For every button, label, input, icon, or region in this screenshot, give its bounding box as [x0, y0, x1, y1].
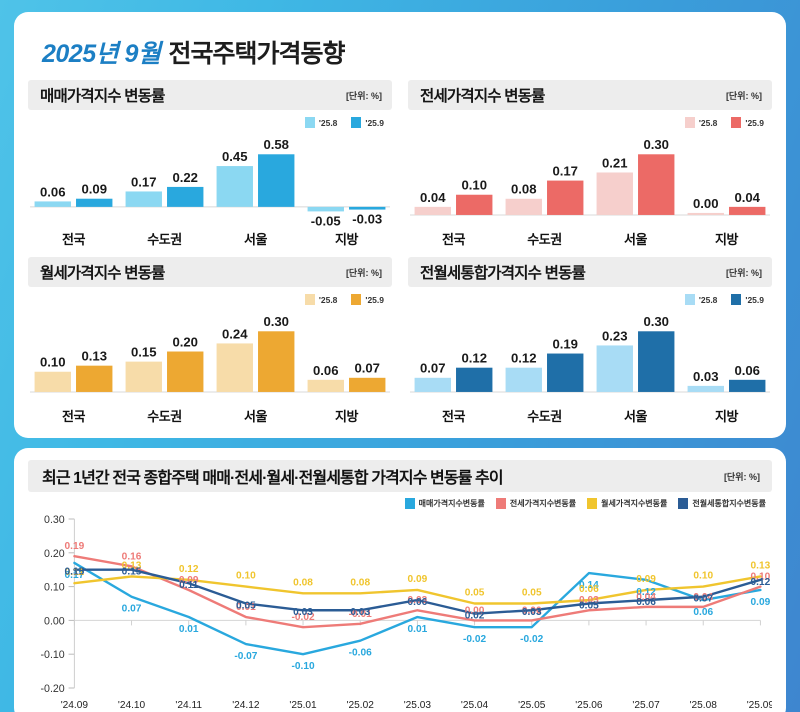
trend-point-label: 0.06	[579, 584, 599, 595]
bar-combined-서울-'25.9[interactable]	[638, 331, 674, 392]
legend-swatch-icon	[405, 498, 415, 509]
bar-wolse-서울-'25.9[interactable]	[258, 331, 294, 392]
panel-title-combined: 전월세통합가격지수 변동률	[420, 261, 585, 283]
bar-sale-전국-'25.9[interactable]	[76, 199, 112, 207]
bar-value-label: 0.12	[461, 351, 487, 366]
x-tick-label: '24.10	[118, 700, 146, 711]
category-label-전국: 전국	[28, 229, 119, 251]
category-label-지방: 지방	[681, 229, 772, 251]
legend-swatch-icon	[305, 294, 315, 305]
x-tick-label: '24.12	[232, 700, 260, 711]
bar-combined-전국-'25.9[interactable]	[456, 368, 492, 392]
bar-value-label: 0.10	[461, 178, 487, 193]
bar-jeonse-지방-'25.8[interactable]	[688, 213, 724, 215]
trend-legend-item-2[interactable]: 월세가격지수변동률	[587, 498, 667, 509]
bar-value-label: 0.19	[552, 337, 578, 352]
top-card: 2025년 9월 전국주택가격동향 매매가격지수 변동률[단위: %]'25.8…	[14, 12, 786, 438]
category-label-수도권: 수도권	[119, 406, 210, 428]
bar-value-label: 0.17	[131, 174, 157, 189]
legend-wolse: '25.8'25.9	[28, 287, 392, 305]
trend-point-label: 0.15	[65, 567, 85, 578]
panel-header-sale: 매매가격지수 변동률[단위: %]	[28, 80, 392, 110]
y-tick-label: 0.00	[44, 615, 65, 627]
panel-title-sale: 매매가격지수 변동률	[40, 84, 165, 106]
bar-value-label: 0.30	[643, 314, 669, 329]
bars-area-combined: 0.070.120.120.190.230.300.030.06	[408, 305, 772, 406]
bar-value-label: 0.08	[511, 182, 537, 197]
trend-point-label: 0.05	[236, 601, 256, 612]
bar-value-label: 0.07	[354, 361, 380, 376]
legend-swatch-icon	[731, 117, 741, 128]
bars-area-sale: 0.060.090.170.220.450.58-0.05-0.03	[28, 128, 392, 229]
category-label-전국: 전국	[408, 406, 499, 428]
x-tick-label: '24.11	[175, 700, 202, 711]
trend-point-label: 0.03	[293, 607, 313, 618]
trend-legend-item-1[interactable]: 전세가격지수변동률	[496, 498, 576, 509]
trend-point-label: -0.02	[520, 634, 543, 645]
legend-label: '25.9	[365, 118, 384, 128]
bar-jeonse-수도권-'25.9[interactable]	[547, 181, 583, 215]
bar-wolse-지방-'25.8[interactable]	[308, 380, 344, 392]
legend-item-wolse-0[interactable]: '25.8	[305, 294, 338, 305]
bar-value-label: 0.06	[734, 363, 760, 378]
trend-point-label: 0.03	[350, 607, 370, 618]
trend-point-label: -0.06	[349, 648, 372, 659]
bar-jeonse-수도권-'25.8[interactable]	[506, 199, 542, 215]
trend-point-label: 0.07	[122, 604, 142, 615]
trend-title: 최근 1년간 전국 종합주택 매매·전세·월세·전월세통합 가격지수 변동률 추…	[42, 464, 503, 488]
trend-point-label: 0.01	[179, 624, 199, 635]
x-tick-label: '25.02	[347, 700, 375, 711]
legend-swatch-icon	[685, 117, 695, 128]
bar-value-label: 0.45	[222, 149, 248, 164]
trend-point-label: 0.10	[693, 571, 713, 582]
trend-point-label: 0.06	[408, 597, 428, 608]
panel-jeonse: 전세가격지수 변동률[단위: %]'25.8'25.90.040.100.080…	[408, 80, 772, 251]
trend-point-label: 0.06	[693, 607, 713, 618]
bar-sale-지방-'25.9[interactable]	[349, 207, 385, 210]
bar-value-label: -0.03	[352, 212, 382, 227]
category-label-지방: 지방	[301, 406, 392, 428]
x-tick-label: '25.06	[575, 700, 603, 711]
bar-value-label: 0.07	[420, 361, 446, 376]
bar-value-label: 0.06	[313, 363, 339, 378]
bar-wolse-전국-'25.8[interactable]	[35, 372, 71, 392]
trend-point-label: 0.15	[122, 567, 142, 578]
legend-swatch-icon	[351, 294, 361, 305]
panel-header-combined: 전월세통합가격지수 변동률[단위: %]	[408, 257, 772, 287]
bar-value-label: 0.10	[40, 355, 66, 370]
title-period: 2025년 9월	[42, 34, 160, 70]
trend-point-label: 0.09	[636, 574, 656, 585]
trend-point-label: 0.05	[522, 588, 542, 599]
bar-svg-sale: 0.060.090.170.220.450.58-0.05-0.03	[28, 128, 392, 229]
category-label-서울: 서울	[590, 229, 681, 251]
trend-point-label: 0.09	[408, 574, 428, 585]
bar-jeonse-전국-'25.8[interactable]	[415, 207, 451, 215]
legend-swatch-icon	[685, 294, 695, 305]
bar-sale-지방-'25.8[interactable]	[308, 207, 344, 212]
trend-point-label: 0.01	[408, 624, 428, 635]
trend-unit-badge: [단위: %]	[724, 470, 760, 483]
bar-sale-서울-'25.8[interactable]	[217, 166, 253, 207]
bar-sale-수도권-'25.8[interactable]	[126, 191, 162, 206]
panel-combined: 전월세통합가격지수 변동률[단위: %]'25.8'25.90.070.120.…	[408, 257, 772, 428]
legend-swatch-icon	[351, 117, 361, 128]
trend-legend-label: 매매가격지수변동률	[419, 498, 485, 509]
bar-svg-combined: 0.070.120.120.190.230.300.030.06	[408, 305, 772, 406]
legend-label: '25.9	[745, 118, 764, 128]
category-row-combined: 전국수도권서울지방	[408, 406, 772, 428]
bar-value-label: 0.17	[552, 164, 578, 179]
bar-value-label: -0.05	[311, 214, 341, 229]
bar-value-label: 0.04	[420, 190, 446, 205]
trend-point-label: -0.02	[463, 634, 486, 645]
legend-swatch-icon	[678, 498, 688, 509]
legend-label: '25.9	[365, 295, 384, 305]
trend-point-label: 0.08	[293, 577, 313, 588]
legend-label: '25.8	[319, 118, 338, 128]
bar-value-label: 0.21	[602, 155, 628, 170]
x-tick-label: '25.09	[747, 700, 772, 711]
category-label-지방: 지방	[681, 406, 772, 428]
bar-jeonse-전국-'25.9[interactable]	[456, 195, 492, 215]
x-tick-label: '25.05	[518, 700, 546, 711]
legend-item-sale-0[interactable]: '25.8	[305, 117, 338, 128]
legend-item-combined-1[interactable]: '25.9	[731, 294, 764, 305]
trend-point-label: 0.11	[179, 580, 198, 591]
bar-jeonse-서울-'25.9[interactable]	[638, 154, 674, 215]
category-label-지방: 지방	[301, 229, 392, 251]
bar-value-label: 0.09	[81, 182, 107, 197]
bar-sale-서울-'25.9[interactable]	[258, 154, 294, 207]
trend-point-label: 0.07	[693, 594, 713, 605]
panel-wolse: 월세가격지수 변동률[단위: %]'25.8'25.90.100.130.150…	[28, 257, 392, 428]
trend-card: 최근 1년간 전국 종합주택 매매·전세·월세·전월세통합 가격지수 변동률 추…	[14, 448, 786, 712]
category-label-서울: 서울	[210, 229, 301, 251]
legend-item-combined-0[interactable]: '25.8	[685, 294, 718, 305]
title-main: 전국주택가격동향	[168, 34, 344, 70]
trend-legend-label: 전월세통합지수변동률	[692, 498, 766, 509]
bar-combined-지방-'25.9[interactable]	[729, 380, 765, 392]
bar-value-label: 0.30	[643, 137, 669, 152]
bar-value-label: 0.00	[693, 196, 719, 211]
unit-badge-sale: [단위: %]	[346, 89, 382, 102]
bar-value-label: 0.23	[602, 328, 628, 343]
legend-item-sale-1[interactable]: '25.9	[351, 117, 384, 128]
trend-point-label: 0.12	[179, 564, 199, 575]
legend-item-jeonse-0[interactable]: '25.8	[685, 117, 718, 128]
trend-point-label: 0.06	[636, 597, 656, 608]
y-tick-label: 0.20	[44, 548, 65, 560]
legend-label: '25.8	[699, 295, 718, 305]
bar-value-label: 0.24	[222, 326, 248, 341]
trend-point-label: -0.07	[234, 651, 257, 662]
bar-wolse-지방-'25.9[interactable]	[349, 378, 385, 392]
trend-point-label: 0.02	[465, 611, 485, 622]
trend-point-label: 0.05	[579, 601, 599, 612]
bar-value-label: 0.58	[263, 137, 289, 152]
trend-point-label: 0.19	[65, 541, 85, 552]
legend-swatch-icon	[496, 498, 506, 509]
x-tick-label: '25.01	[289, 700, 317, 711]
bar-jeonse-서울-'25.8[interactable]	[597, 172, 633, 214]
bar-value-label: 0.20	[172, 335, 198, 350]
trend-point-label: 0.08	[350, 577, 370, 588]
legend-sale: '25.8'25.9	[28, 110, 392, 128]
trend-point-label: 0.12	[751, 577, 771, 588]
unit-badge-combined: [단위: %]	[726, 266, 762, 279]
bar-value-label: 0.13	[81, 349, 107, 364]
legend-jeonse: '25.8'25.9	[408, 110, 772, 128]
bar-svg-jeonse: 0.040.100.080.170.210.300.000.04	[408, 128, 772, 229]
category-label-전국: 전국	[28, 406, 119, 428]
trend-legend-label: 월세가격지수변동률	[601, 498, 667, 509]
bar-value-label: 0.15	[131, 345, 157, 360]
legend-item-wolse-1[interactable]: '25.9	[351, 294, 384, 305]
trend-point-label: 0.03	[522, 607, 542, 618]
category-label-수도권: 수도권	[499, 229, 590, 251]
x-tick-label: '25.08	[690, 700, 718, 711]
trend-chart: 0.300.200.100.00-0.10-0.20'24.09'24.10'2…	[28, 511, 772, 712]
bars-area-jeonse: 0.040.100.080.170.210.300.000.04	[408, 128, 772, 229]
trend-point-label: 0.13	[751, 561, 771, 572]
panel-title-wolse: 월세가격지수 변동률	[40, 261, 165, 283]
bar-value-label: 0.12	[511, 351, 537, 366]
x-tick-label: '25.07	[632, 700, 660, 711]
bar-value-label: 0.04	[734, 190, 760, 205]
bar-svg-wolse: 0.100.130.150.200.240.300.060.07	[28, 305, 392, 406]
legend-combined: '25.8'25.9	[408, 287, 772, 305]
y-tick-label: 0.30	[44, 514, 65, 526]
legend-label: '25.9	[745, 295, 764, 305]
trend-legend-label: 전세가격지수변동률	[510, 498, 576, 509]
y-tick-label: -0.10	[41, 649, 65, 661]
bar-panel-grid: 매매가격지수 변동률[단위: %]'25.8'25.90.060.090.170…	[28, 80, 772, 428]
category-label-수도권: 수도권	[499, 406, 590, 428]
trend-point-label: 0.05	[465, 588, 485, 599]
bar-combined-수도권-'25.8[interactable]	[506, 368, 542, 392]
category-label-서울: 서울	[590, 406, 681, 428]
trend-legend: 매매가격지수변동률전세가격지수변동률월세가격지수변동률전월세통합지수변동률	[28, 492, 772, 511]
bar-sale-수도권-'25.9[interactable]	[167, 187, 203, 207]
bar-combined-서울-'25.8[interactable]	[597, 346, 633, 393]
page-title: 2025년 9월 전국주택가격동향	[28, 26, 772, 80]
bar-combined-전국-'25.8[interactable]	[415, 378, 451, 392]
bar-value-label: 0.03	[693, 369, 719, 384]
bar-jeonse-지방-'25.9[interactable]	[729, 207, 765, 215]
bar-value-label: 0.30	[263, 314, 289, 329]
trend-legend-item-3[interactable]: 전월세통합지수변동률	[678, 498, 766, 509]
legend-swatch-icon	[587, 498, 597, 509]
bars-area-wolse: 0.100.130.150.200.240.300.060.07	[28, 305, 392, 406]
category-row-sale: 전국수도권서울지방	[28, 229, 392, 251]
y-tick-label: -0.20	[41, 683, 65, 695]
panel-title-jeonse: 전세가격지수 변동률	[420, 84, 545, 106]
bar-wolse-전국-'25.9[interactable]	[76, 366, 112, 392]
unit-badge-jeonse: [단위: %]	[726, 89, 762, 102]
trend-header: 최근 1년간 전국 종합주택 매매·전세·월세·전월세통합 가격지수 변동률 추…	[28, 460, 772, 492]
panel-sale: 매매가격지수 변동률[단위: %]'25.8'25.90.060.090.170…	[28, 80, 392, 251]
trend-point-label: -0.10	[292, 661, 315, 672]
bar-wolse-수도권-'25.9[interactable]	[167, 352, 203, 392]
legend-label: '25.8	[699, 118, 718, 128]
x-tick-label: '25.03	[404, 700, 432, 711]
legend-swatch-icon	[731, 294, 741, 305]
legend-item-jeonse-1[interactable]: '25.9	[731, 117, 764, 128]
x-tick-label: '24.09	[61, 700, 89, 711]
bar-wolse-서울-'25.8[interactable]	[217, 344, 253, 393]
legend-swatch-icon	[305, 117, 315, 128]
trend-legend-item-0[interactable]: 매매가격지수변동률	[405, 498, 485, 509]
trend-line-svg: 0.300.200.100.00-0.10-0.20'24.09'24.10'2…	[28, 511, 772, 712]
bar-value-label: 0.22	[172, 170, 198, 185]
category-row-wolse: 전국수도권서울지방	[28, 406, 392, 428]
bar-value-label: 0.06	[40, 184, 66, 199]
unit-badge-wolse: [단위: %]	[346, 266, 382, 279]
bar-wolse-수도권-'25.8[interactable]	[126, 362, 162, 392]
category-label-수도권: 수도권	[119, 229, 210, 251]
trend-point-label: 0.09	[751, 597, 771, 608]
legend-label: '25.8	[319, 295, 338, 305]
trend-point-label: 0.10	[236, 571, 256, 582]
bar-sale-전국-'25.8[interactable]	[35, 201, 71, 206]
panel-header-jeonse: 전세가격지수 변동률[단위: %]	[408, 80, 772, 110]
panel-header-wolse: 월세가격지수 변동률[단위: %]	[28, 257, 392, 287]
category-label-전국: 전국	[408, 229, 499, 251]
category-label-서울: 서울	[210, 406, 301, 428]
category-row-jeonse: 전국수도권서울지방	[408, 229, 772, 251]
bar-combined-수도권-'25.9[interactable]	[547, 354, 583, 392]
y-tick-label: 0.10	[44, 582, 65, 594]
x-tick-label: '25.04	[461, 700, 489, 711]
bar-combined-지방-'25.8[interactable]	[688, 386, 724, 392]
infographic-page: 2025년 9월 전국주택가격동향 매매가격지수 변동률[단위: %]'25.8…	[0, 0, 800, 712]
